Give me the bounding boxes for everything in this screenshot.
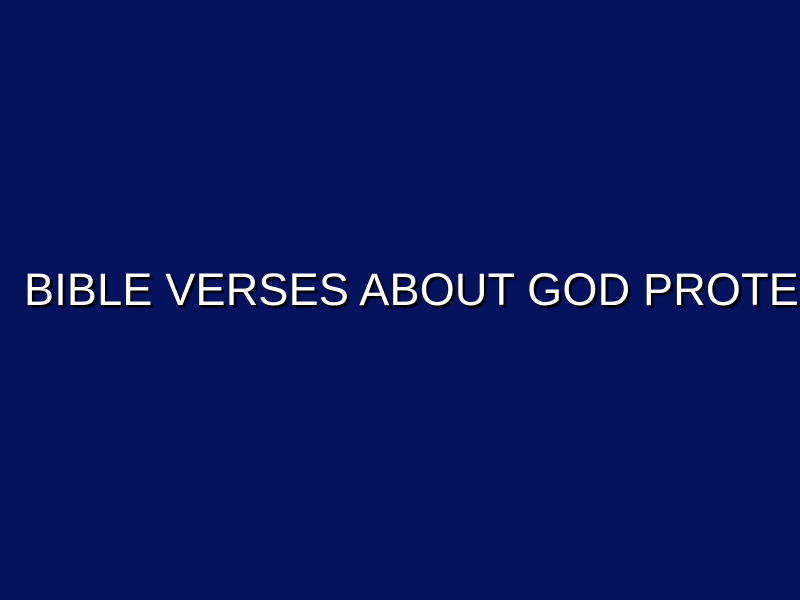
page-title: BIBLE VERSES ABOUT GOD PROTECTING	[24, 264, 800, 316]
title-card: BIBLE VERSES ABOUT GOD PROTECTING	[0, 0, 800, 600]
headline-block: BIBLE VERSES ABOUT GOD PROTECTING	[0, 264, 800, 316]
